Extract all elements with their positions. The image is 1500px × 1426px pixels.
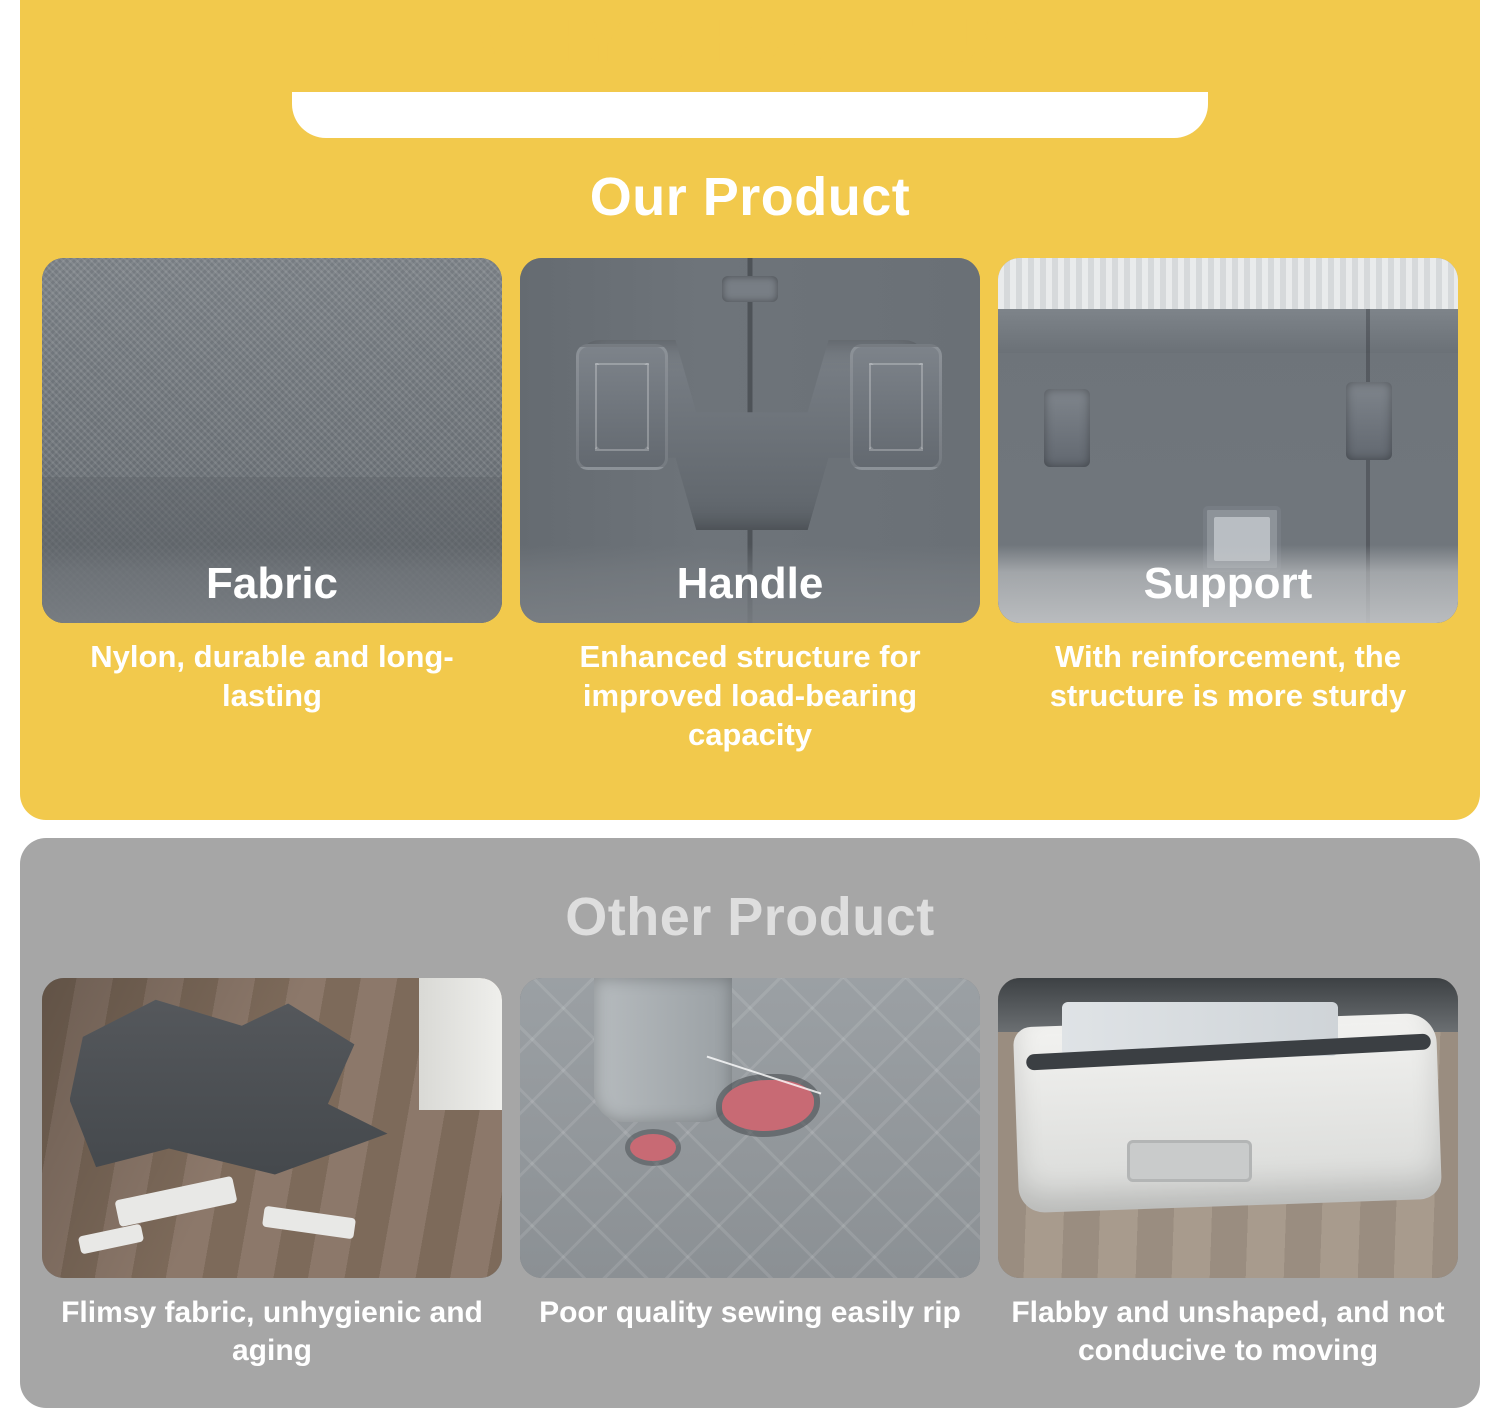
bag-handle: [1127, 1140, 1253, 1182]
box-handle-right: [1346, 382, 1392, 460]
header-notch: [292, 92, 1208, 138]
other-product-panel: Other Product Flimsy fabric, unhygienic …: [20, 838, 1480, 1408]
sewing-caption: Poor quality sewing easily rip: [520, 1294, 980, 1332]
fabric-image: Fabric: [42, 258, 502, 623]
rip-hole-small: [630, 1134, 676, 1161]
towel-texture: [998, 258, 1458, 316]
strap-anchor-left: [576, 344, 668, 470]
sewing-photo-fill: [520, 978, 980, 1278]
our-product-card-support: Support With reinforcement, the structur…: [998, 258, 1458, 754]
flimsy-image: [42, 978, 502, 1278]
handle-caption: Enhanced structure for improved load-bea…: [520, 637, 980, 754]
our-product-card-handle: Handle Enhanced structure for improved l…: [520, 258, 980, 754]
our-product-panel: Our Product Fabric Nylon, durable and lo…: [20, 68, 1480, 820]
flabby-caption: Flabby and unshaped, and not conducive t…: [998, 1294, 1458, 1370]
handle-image: Handle: [520, 258, 980, 623]
support-caption: With reinforcement, the structure is mor…: [998, 637, 1458, 715]
sewing-image: [520, 978, 980, 1278]
bag-strap-shape: [594, 978, 732, 1122]
debris-piece: [262, 1206, 356, 1240]
support-label: Support: [998, 545, 1458, 623]
our-product-heading: Our Product: [20, 166, 1480, 228]
handle-label: Handle: [520, 545, 980, 623]
other-product-card-row: Flimsy fabric, unhygienic and aging Poor…: [42, 978, 1458, 1370]
header-banner: WHY CHOOSE US: [20, 0, 1480, 132]
rivet-icon: [722, 276, 778, 302]
torn-bag-shape: [70, 996, 401, 1182]
strap-anchor-right: [850, 344, 942, 470]
box-handle-left: [1044, 389, 1090, 467]
other-product-heading: Other Product: [20, 886, 1480, 948]
box-top-edge: [998, 309, 1458, 353]
page-title: WHY CHOOSE US: [20, 0, 1480, 84]
flimsy-photo-fill: [42, 978, 502, 1278]
flabby-photo-fill: [998, 978, 1458, 1278]
fabric-caption: Nylon, durable and long-lasting: [42, 637, 502, 715]
support-image: Support: [998, 258, 1458, 623]
wall-area: [419, 978, 502, 1110]
other-product-card-flabby: Flabby and unshaped, and not conducive t…: [998, 978, 1458, 1370]
our-product-card-row: Fabric Nylon, durable and long-lasting H…: [42, 258, 1458, 754]
our-product-card-fabric: Fabric Nylon, durable and long-lasting: [42, 258, 502, 754]
fabric-label: Fabric: [42, 545, 502, 623]
other-product-card-sewing: Poor quality sewing easily rip: [520, 978, 980, 1370]
debris-piece: [78, 1224, 145, 1255]
debris-piece: [114, 1176, 237, 1227]
flabby-image: [998, 978, 1458, 1278]
flimsy-caption: Flimsy fabric, unhygienic and aging: [42, 1294, 502, 1370]
other-product-card-flimsy: Flimsy fabric, unhygienic and aging: [42, 978, 502, 1370]
